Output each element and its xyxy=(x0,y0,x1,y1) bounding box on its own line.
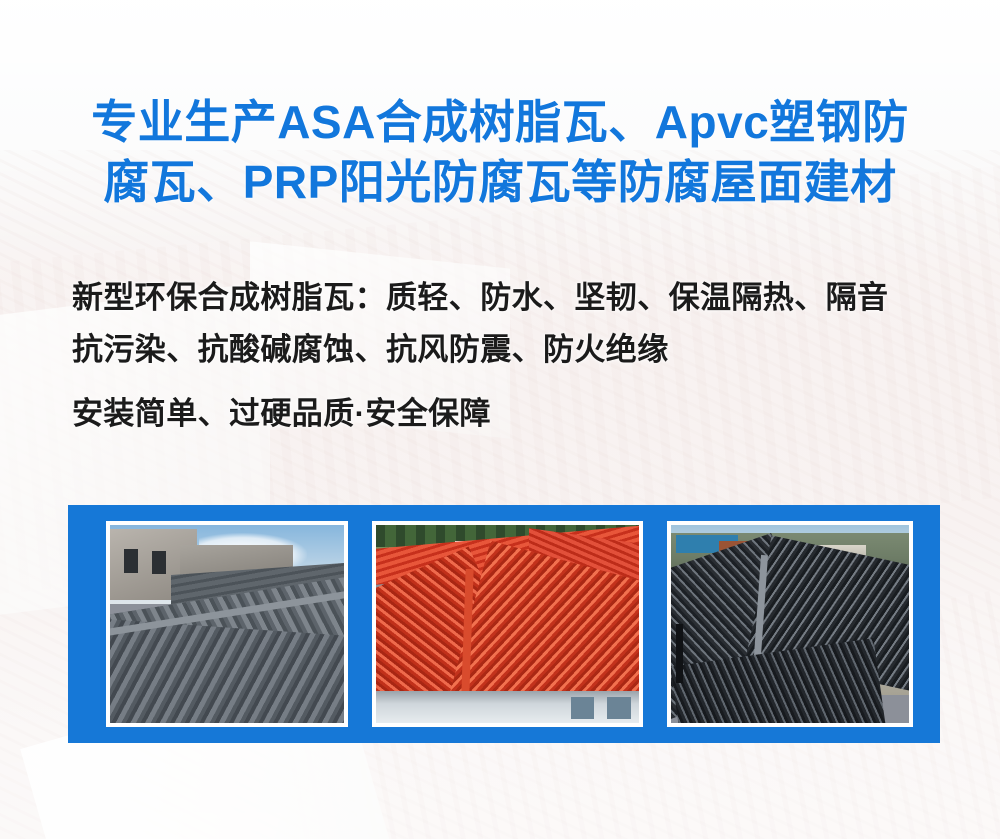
product-banner: 专业生产ASA合成树脂瓦、Apvc塑钢防 腐瓦、PRP阳光防腐瓦等防腐屋面建材 … xyxy=(0,0,1000,839)
feature-copy: 新型环保合成树脂瓦：质轻、防水、坚韧、保温隔热、隔音 抗污染、抗酸碱腐蚀、抗风防… xyxy=(72,272,972,440)
feature-copy-line-2: 抗污染、抗酸碱腐蚀、抗风防震、防火绝缘 xyxy=(72,324,972,376)
photo-gallery-panel xyxy=(68,505,940,743)
headline: 专业生产ASA合成树脂瓦、Apvc塑钢防 腐瓦、PRP阳光防腐瓦等防腐屋面建材 xyxy=(0,92,1000,212)
feature-copy-line-1: 新型环保合成树脂瓦：质轻、防水、坚韧、保温隔热、隔音 xyxy=(72,272,972,324)
headline-line-2: 腐瓦、PRP阳光防腐瓦等防腐屋面建材 xyxy=(0,152,1000,212)
feature-copy-line-3: 安装简单、过硬品质·安全保障 xyxy=(72,388,972,440)
red-resin-tile-roof-photo[interactable] xyxy=(372,521,643,727)
headline-line-1: 专业生产ASA合成树脂瓦、Apvc塑钢防 xyxy=(0,92,1000,152)
grey-resin-tile-roof-photo[interactable] xyxy=(106,521,348,727)
dark-grey-resin-tile-roof-photo[interactable] xyxy=(667,521,913,727)
